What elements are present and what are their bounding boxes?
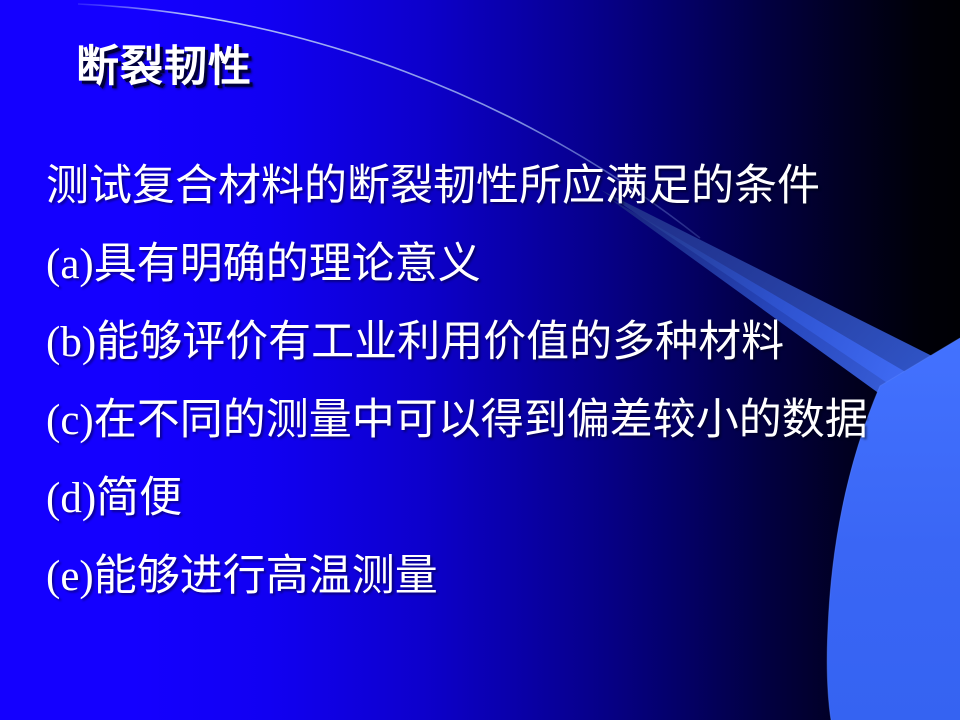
- body-line-item-b: (b)能够评价有工业利用价值的多种材料: [46, 304, 946, 382]
- body-line-item-e: (e)能够进行高温测量: [46, 538, 946, 616]
- slide-body: 测试复合材料的断裂韧性所应满足的条件 (a)具有明确的理论意义 (b)能够评价有…: [46, 148, 946, 616]
- body-line-item-c: (c)在不同的测量中可以得到偏差较小的数据: [46, 382, 946, 460]
- body-line-item-a: (a)具有明确的理论意义: [46, 226, 946, 304]
- slide-title: 断裂韧性: [76, 46, 252, 89]
- body-line-intro: 测试复合材料的断裂韧性所应满足的条件: [46, 148, 946, 226]
- body-line-item-d: (d)简便: [46, 460, 946, 538]
- presentation-slide: 断裂韧性 测试复合材料的断裂韧性所应满足的条件 (a)具有明确的理论意义 (b)…: [0, 0, 960, 720]
